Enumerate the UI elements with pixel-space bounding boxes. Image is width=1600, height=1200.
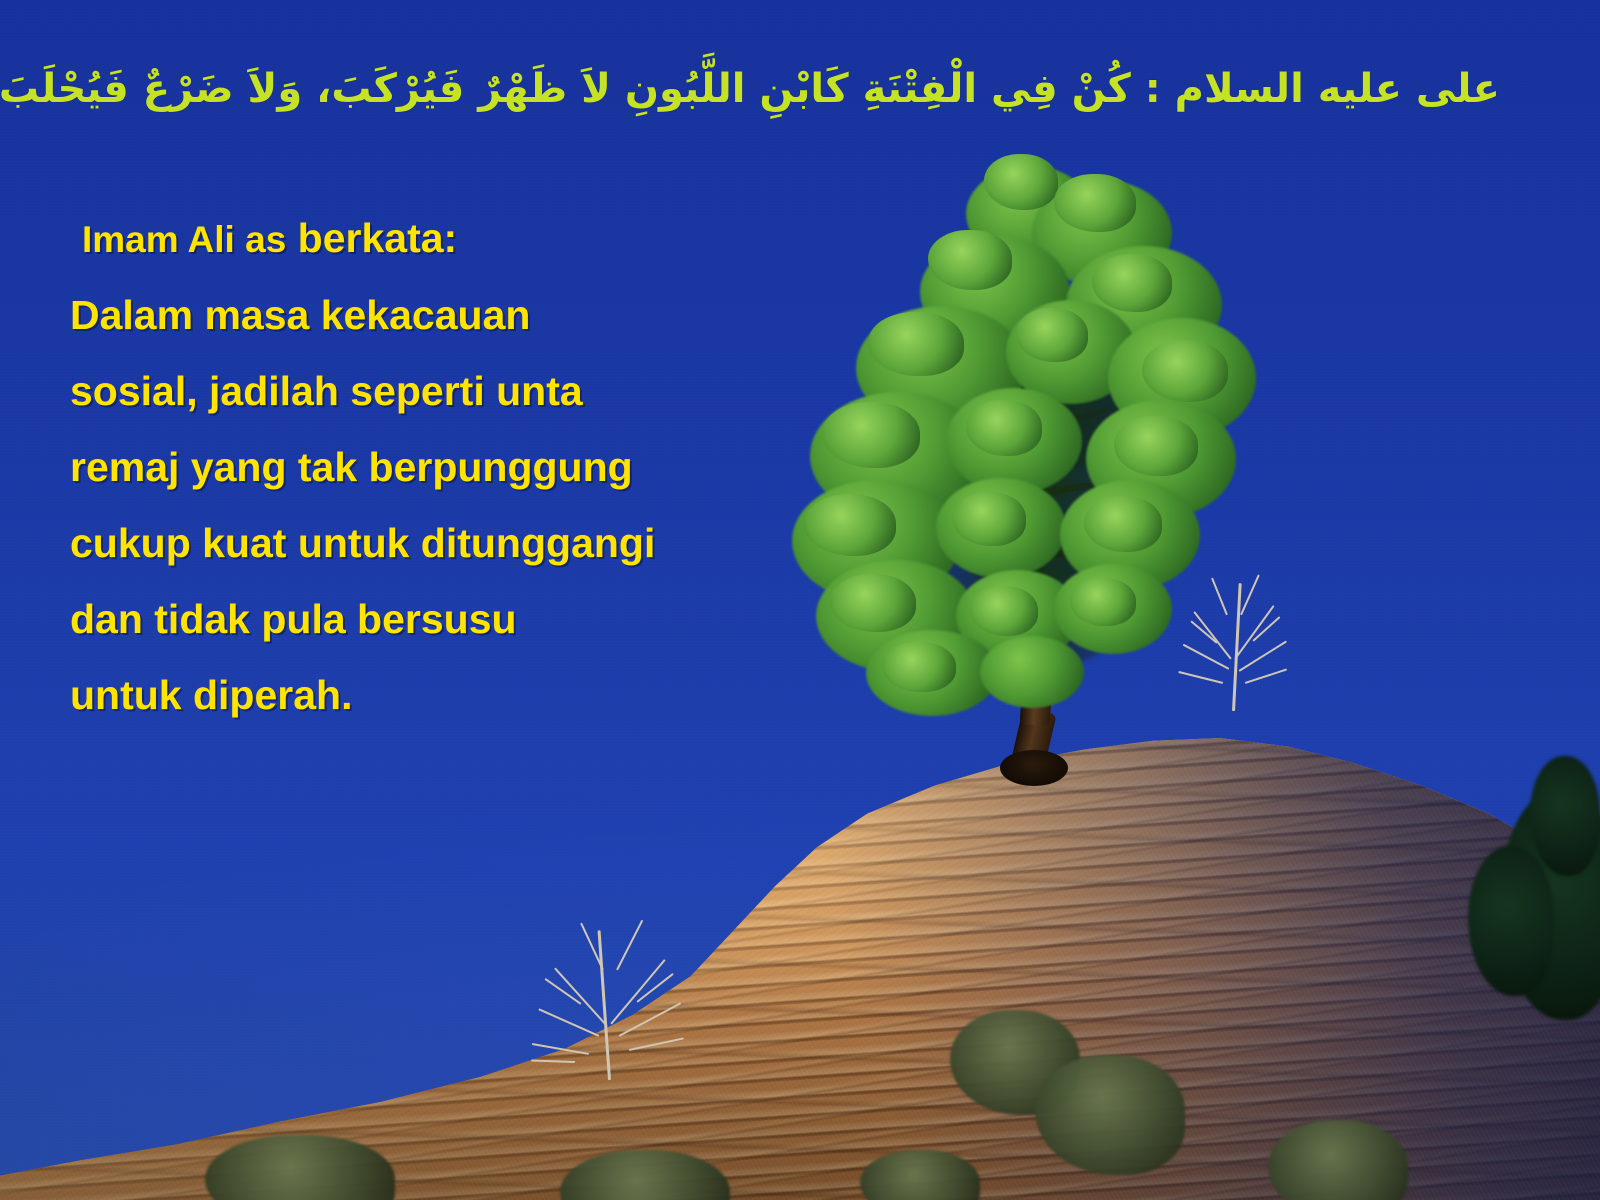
quote-line: sosial, jadilah seperti unta — [70, 371, 830, 412]
quote-attribution: Imam Ali as berkata: — [82, 218, 830, 259]
pine-tree — [770, 150, 1290, 770]
bare-shrub-left — [520, 900, 700, 1085]
quote-line: dan tidak pula bersusu — [70, 599, 830, 640]
attribution-verb: berkata: — [286, 215, 457, 261]
quote-line: untuk diperah. — [70, 675, 830, 716]
slide-canvas: على عليه السلام : كُنْ فِي الْفِتْنَةِ ك… — [0, 0, 1600, 1200]
attribution-name: Imam Ali as — [82, 219, 286, 260]
arabic-quote: على عليه السلام : كُنْ فِي الْفِتْنَةِ ك… — [100, 64, 1500, 115]
quote-line: cukup kuat untuk ditunggangi — [70, 523, 830, 564]
quote-line: Dalam masa kekacauan — [70, 295, 830, 336]
quote-line: remaj yang tak berpunggung — [70, 447, 830, 488]
quote-block: Imam Ali as berkata: Dalam masa kekacaua… — [70, 218, 830, 716]
